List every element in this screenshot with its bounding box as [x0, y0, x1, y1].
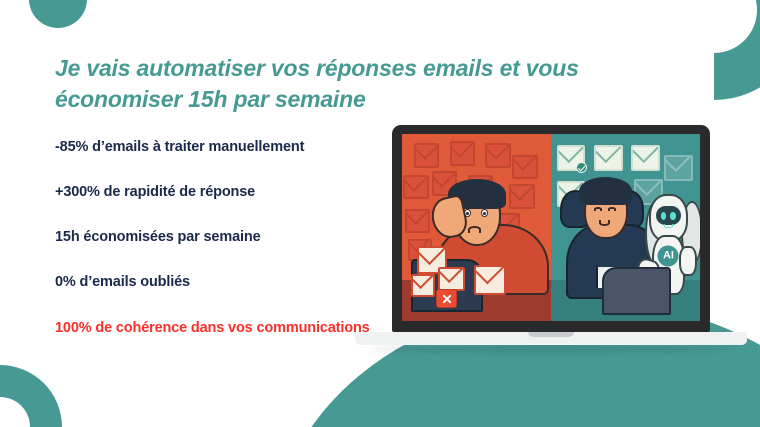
mini-laptop-right	[602, 267, 672, 316]
envelope-icon	[474, 265, 507, 295]
robot-ai-badge: AI	[658, 245, 679, 266]
laptop-shadow	[369, 345, 733, 353]
list-item-highlight: 100% de cohérence dans vos communication…	[55, 319, 375, 339]
laptop-screen: AI	[402, 134, 700, 321]
stress-line	[471, 179, 473, 187]
robot-eye-right	[670, 212, 675, 220]
robot-eye-left	[661, 212, 666, 220]
robot-arm-right	[679, 246, 696, 276]
screen-panel-overwhelmed	[402, 134, 551, 321]
screen-panel-automated: AI	[551, 134, 700, 321]
list-item: -85% d’emails à traiter manuellement	[55, 138, 375, 156]
list-item: 0% d’emails oubliés	[55, 273, 375, 291]
envelope-icon	[411, 274, 435, 296]
decor-ring-bottom-left	[0, 365, 62, 427]
list-item: 15h économisées par semaine	[55, 228, 375, 246]
page-title: Je vais automatiser vos réponses emails …	[55, 53, 675, 114]
laptop-base-notch	[528, 332, 574, 337]
eye	[481, 209, 488, 217]
robot-smile	[664, 224, 674, 228]
robot-visor	[656, 206, 681, 225]
slide-canvas: Je vais automatiser vos réponses emails …	[0, 0, 760, 427]
benefits-list: -85% d’emails à traiter manuellement +30…	[55, 138, 375, 338]
decor-half-circle-top-left	[29, 0, 87, 28]
envelope-icon	[438, 267, 465, 291]
error-x-badge	[436, 289, 457, 308]
mouth-frown	[468, 226, 481, 233]
list-item: +300% de rapidité de réponse	[55, 183, 375, 201]
laptop-lid: AI	[392, 125, 710, 332]
laptop-illustration: AI	[355, 125, 747, 350]
